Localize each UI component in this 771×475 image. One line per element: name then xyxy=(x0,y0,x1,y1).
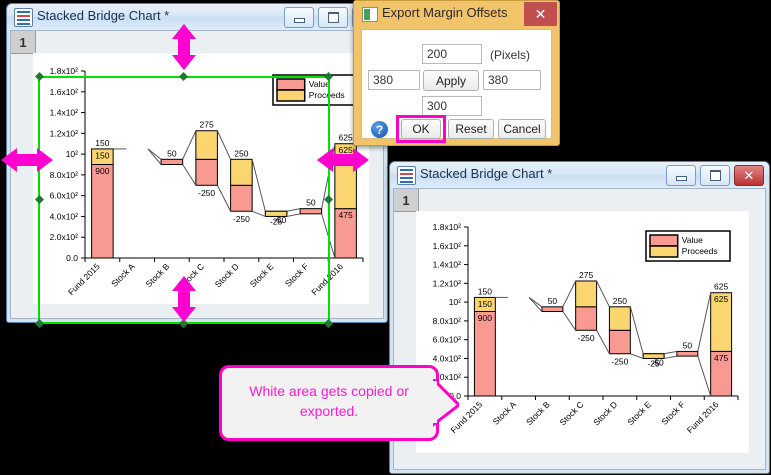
ok-button-highlight xyxy=(396,115,446,143)
svg-text:1.4x10²: 1.4x10² xyxy=(433,260,462,270)
close-button-2[interactable]: ✕ xyxy=(734,165,764,186)
maximize-button-2[interactable] xyxy=(700,165,730,186)
svg-text:1.8x10²: 1.8x10² xyxy=(433,222,462,232)
dialog-title: Export Margin Offsets xyxy=(382,5,507,20)
svg-text:4.0x10²: 4.0x10² xyxy=(433,353,462,363)
svg-text:150: 150 xyxy=(95,138,109,148)
svg-text:-250: -250 xyxy=(233,214,250,224)
cancel-button[interactable]: Cancel xyxy=(498,119,546,139)
svg-text:50: 50 xyxy=(683,340,693,350)
window1-body: 1 0.02.0x10²4.0x10²6.0x10²8.0x10²10²1.2x… xyxy=(10,30,384,319)
dialog-app-icon xyxy=(362,7,378,22)
svg-text:6.0x10²: 6.0x10² xyxy=(433,335,462,345)
reset-button[interactable]: Reset xyxy=(448,119,494,139)
chart-canvas-2[interactable]: 0.02.0x10²4.0x10²6.0x10²8.0x10²10²1.2x10… xyxy=(416,211,749,453)
svg-text:250: 250 xyxy=(613,296,627,306)
svg-text:Value: Value xyxy=(682,235,703,245)
svg-text:475: 475 xyxy=(339,210,353,220)
maximize-button[interactable] xyxy=(318,7,348,28)
minimize-button[interactable] xyxy=(284,7,314,28)
window2-titlebar[interactable]: Stacked Bridge Chart * ✕ xyxy=(390,162,769,188)
svg-text:2.0x10²: 2.0x10² xyxy=(50,232,79,242)
svg-text:Stock C: Stock C xyxy=(557,399,585,427)
svg-text:Fund 2016: Fund 2016 xyxy=(685,399,721,435)
annotation-callout: White area gets copied or exported. xyxy=(219,365,455,441)
svg-text:Stock B: Stock B xyxy=(524,399,552,427)
top-offset-input[interactable]: 200 xyxy=(422,44,482,64)
svg-text:1.2x10²: 1.2x10² xyxy=(433,278,462,288)
dialog-titlebar[interactable]: Export Margin Offsets ✕ xyxy=(354,1,559,28)
stacked-bridge-chart-1: 0.02.0x10²4.0x10²6.0x10²8.0x10²10²1.2x10… xyxy=(33,53,369,304)
svg-text:900: 900 xyxy=(95,166,109,176)
svg-text:50: 50 xyxy=(548,296,558,306)
graph-window-icon xyxy=(14,8,33,27)
svg-text:625: 625 xyxy=(714,294,728,304)
svg-text:150: 150 xyxy=(478,299,492,309)
svg-text:150: 150 xyxy=(95,150,109,160)
right-offset-input[interactable]: 380 xyxy=(483,70,541,90)
window2-title: Stacked Bridge Chart * xyxy=(420,166,552,181)
export-margin-offsets-dialog[interactable]: Export Margin Offsets ✕ 200 (Pixels) 380… xyxy=(353,0,560,146)
svg-text:1.8x10²: 1.8x10² xyxy=(50,66,79,76)
apply-button[interactable]: Apply xyxy=(423,70,479,91)
svg-text:1.2x10²: 1.2x10² xyxy=(50,128,79,138)
bottom-offset-input[interactable]: 300 xyxy=(422,96,482,116)
svg-text:-50: -50 xyxy=(651,357,664,367)
help-icon[interactable]: ? xyxy=(371,121,388,138)
window1-titlebar[interactable]: Stacked Bridge Chart * xyxy=(7,4,387,30)
chart-svg-1: 0.02.0x10²4.0x10²6.0x10²8.0x10²10²1.2x10… xyxy=(33,53,377,327)
minimize-button-2[interactable] xyxy=(666,165,696,186)
pixels-units-label: (Pixels) xyxy=(490,48,530,62)
svg-text:275: 275 xyxy=(200,120,214,130)
svg-text:1.4x10²: 1.4x10² xyxy=(50,108,79,118)
svg-text:-250: -250 xyxy=(578,333,595,343)
svg-text:Stock B: Stock B xyxy=(144,261,172,289)
svg-text:1.6x10²: 1.6x10² xyxy=(433,241,462,251)
svg-text:Stock A: Stock A xyxy=(491,399,519,427)
chart-canvas-1[interactable]: 0.02.0x10²4.0x10²6.0x10²8.0x10²10²1.2x10… xyxy=(33,53,369,304)
svg-text:4.0x10²: 4.0x10² xyxy=(50,211,79,221)
svg-text:-50: -50 xyxy=(274,215,287,225)
dialog-body: 200 (Pixels) 380 Apply 380 300 ? OK Rese… xyxy=(361,29,552,139)
svg-text:10²: 10² xyxy=(449,297,461,307)
svg-text:50: 50 xyxy=(167,148,177,158)
svg-text:1.6x10²: 1.6x10² xyxy=(50,87,79,97)
margin-arrow-right xyxy=(317,147,369,173)
svg-text:8.0x10²: 8.0x10² xyxy=(50,170,79,180)
svg-text:Stock A: Stock A xyxy=(109,261,137,289)
svg-text:50: 50 xyxy=(306,198,316,208)
svg-text:625: 625 xyxy=(714,282,728,292)
svg-text:Proceeds: Proceeds xyxy=(309,90,345,100)
svg-text:250: 250 xyxy=(234,148,248,158)
svg-text:Stock E: Stock E xyxy=(625,399,653,427)
svg-text:10²: 10² xyxy=(66,149,78,159)
margin-arrow-left xyxy=(1,147,53,173)
svg-text:0.0: 0.0 xyxy=(66,253,78,263)
window-stacked-bridge-chart-1[interactable]: Stacked Bridge Chart * 1 0.02.0x10²4.0x1… xyxy=(6,3,388,323)
svg-text:Stock F: Stock F xyxy=(659,399,686,426)
svg-text:Stock D: Stock D xyxy=(591,399,619,427)
svg-text:900: 900 xyxy=(478,313,492,323)
left-offset-input[interactable]: 380 xyxy=(368,70,420,90)
svg-text:Proceeds: Proceeds xyxy=(682,246,718,256)
svg-text:Fund 2015: Fund 2015 xyxy=(66,261,102,297)
dialog-close-button[interactable]: ✕ xyxy=(524,2,557,26)
svg-text:-250: -250 xyxy=(198,188,215,198)
svg-text:275: 275 xyxy=(579,270,593,280)
window1-title: Stacked Bridge Chart * xyxy=(37,8,169,23)
svg-text:475: 475 xyxy=(714,353,728,363)
svg-text:625: 625 xyxy=(339,133,353,143)
svg-text:150: 150 xyxy=(478,286,492,296)
graph-window-icon-2 xyxy=(397,166,416,185)
svg-text:8.0x10²: 8.0x10² xyxy=(433,316,462,326)
window2-controls[interactable]: ✕ xyxy=(666,165,764,186)
svg-text:Stock D: Stock D xyxy=(213,261,241,289)
svg-text:Value: Value xyxy=(309,79,330,89)
page-badge-1[interactable]: 1 xyxy=(11,31,36,54)
margin-arrow-bottom xyxy=(171,276,197,322)
margin-arrow-top xyxy=(171,24,197,70)
chart-svg-2: 0.02.0x10²4.0x10²6.0x10²8.0x10²10²1.2x10… xyxy=(416,211,751,456)
svg-text:Stock F: Stock F xyxy=(283,261,310,288)
svg-text:-250: -250 xyxy=(611,356,628,366)
svg-text:6.0x10²: 6.0x10² xyxy=(50,191,79,201)
svg-text:Fund 2016: Fund 2016 xyxy=(309,261,345,297)
page-badge-2[interactable]: 1 xyxy=(394,189,419,212)
svg-text:Stock E: Stock E xyxy=(248,261,276,289)
callout-pointer xyxy=(433,379,459,427)
stacked-bridge-chart-2: 0.02.0x10²4.0x10²6.0x10²8.0x10²10²1.2x10… xyxy=(416,211,749,453)
callout-text: White area gets copied or exported. xyxy=(231,381,427,421)
